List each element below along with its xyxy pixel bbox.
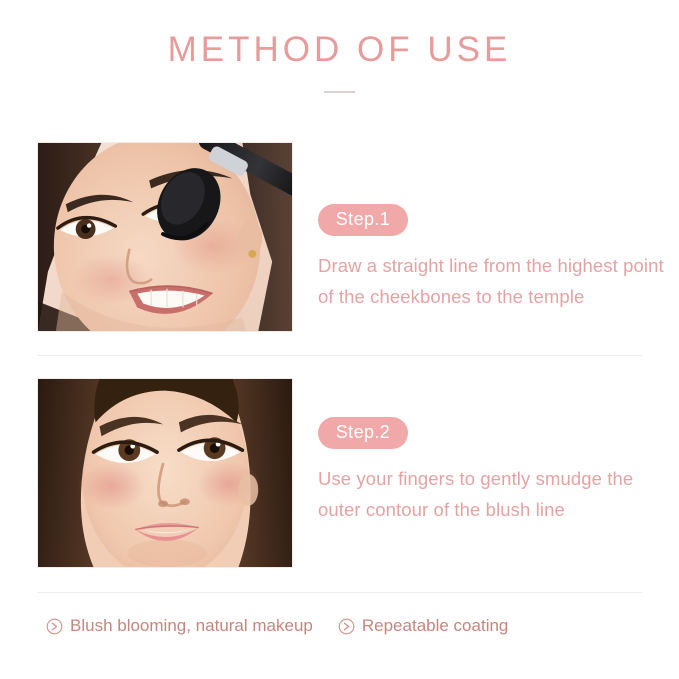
feature-label-0: Blush blooming, natural makeup bbox=[70, 615, 313, 637]
circle-chevron-right-icon bbox=[338, 618, 355, 635]
step-1-photo bbox=[37, 142, 293, 332]
feature-list: Blush blooming, natural makeup Repeatabl… bbox=[0, 615, 679, 637]
feature-item-blush-blooming: Blush blooming, natural makeup bbox=[46, 615, 313, 637]
step-1-description: Draw a straight line from the highest po… bbox=[318, 250, 679, 312]
section-divider-middle bbox=[37, 355, 642, 356]
title-underline-divider bbox=[324, 91, 355, 93]
feature-label-1: Repeatable coating bbox=[362, 615, 509, 637]
step-1-text-column: Step.1 Draw a straight line from the hig… bbox=[318, 142, 679, 312]
step-2-description: Use your fingers to gently smudge the ou… bbox=[318, 463, 679, 525]
step-2-photo bbox=[37, 378, 293, 568]
section-divider-bottom bbox=[37, 592, 642, 593]
circle-chevron-right-icon bbox=[46, 618, 63, 635]
feature-item-repeatable-coating: Repeatable coating bbox=[338, 615, 509, 637]
step-2-badge: Step.2 bbox=[318, 417, 408, 449]
page-title: METHOD OF USE bbox=[0, 28, 679, 72]
step-2-text-column: Step.2 Use your fingers to gently smudge… bbox=[318, 378, 679, 525]
step-1-badge: Step.1 bbox=[318, 204, 408, 236]
